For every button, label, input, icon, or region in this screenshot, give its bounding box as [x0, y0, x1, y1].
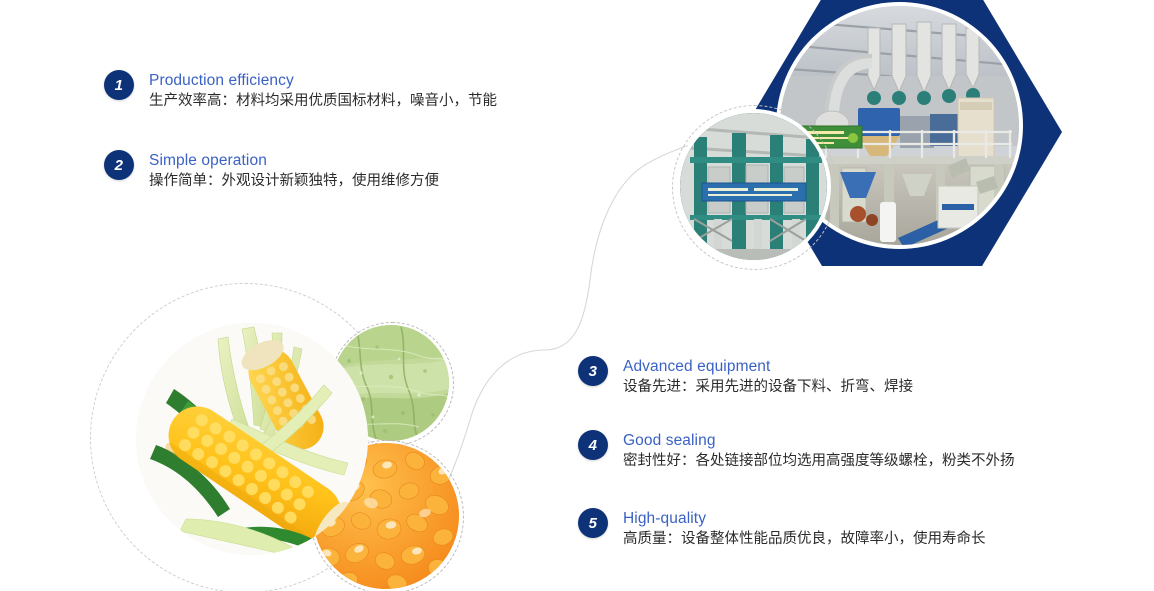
feature-desc-2: 操作简单：外观设计新颖独特，使用维修方便: [149, 171, 439, 192]
feature-badge-2: 2: [104, 150, 134, 180]
feature-text-5: High-quality 高质量：设备整体性能品质优良，故障率小，使用寿命长: [623, 508, 986, 550]
feature-badge-4: 4: [578, 430, 608, 460]
feature-desc-1: 生产效率高：材料均采用优质国标材料，噪音小，节能: [149, 91, 497, 112]
feature-text-3: Advanced equipment 设备先进：采用先进的设备下料、折弯、焊接: [623, 356, 913, 398]
feature-badge-5: 5: [578, 508, 608, 538]
small-plant-photo: [680, 113, 827, 260]
feature-title-4: Good sealing: [623, 431, 1015, 450]
feature-item-1[interactable]: 1 Production efficiency 生产效率高：材料均采用优质国标材…: [104, 70, 497, 112]
feature-text-1: Production efficiency 生产效率高：材料均采用优质国标材料，…: [149, 70, 497, 112]
feature-item-3[interactable]: 3 Advanced equipment 设备先进：采用先进的设备下料、折弯、焊…: [578, 356, 913, 398]
feature-desc-5: 高质量：设备整体性能品质优良，故障率小，使用寿命长: [623, 529, 986, 550]
feature-infographic: 1 Production efficiency 生产效率高：材料均采用优质国标材…: [0, 0, 1154, 591]
feature-item-5[interactable]: 5 High-quality 高质量：设备整体性能品质优良，故障率小，使用寿命长: [578, 508, 986, 550]
feature-text-2: Simple operation 操作简单：外观设计新颖独特，使用维修方便: [149, 150, 439, 192]
feature-badge-1: 1: [104, 70, 134, 100]
feature-title-5: High-quality: [623, 509, 986, 528]
feature-title-3: Advanced equipment: [623, 357, 913, 376]
feature-badge-3: 3: [578, 356, 608, 386]
feature-desc-3: 设备先进：采用先进的设备下料、折弯、焊接: [623, 377, 913, 398]
feature-title-1: Production efficiency: [149, 71, 497, 90]
feature-desc-4: 密封性好：各处链接部位均选用高强度等级螺栓，粉类不外扬: [623, 451, 1015, 472]
corn-cob-photo: [136, 323, 368, 555]
feature-item-2[interactable]: 2 Simple operation 操作简单：外观设计新颖独特，使用维修方便: [104, 150, 439, 192]
feature-item-4[interactable]: 4 Good sealing 密封性好：各处链接部位均选用高强度等级螺栓，粉类不…: [578, 430, 1015, 472]
feature-title-2: Simple operation: [149, 151, 439, 170]
feature-text-4: Good sealing 密封性好：各处链接部位均选用高强度等级螺栓，粉类不外扬: [623, 430, 1015, 472]
